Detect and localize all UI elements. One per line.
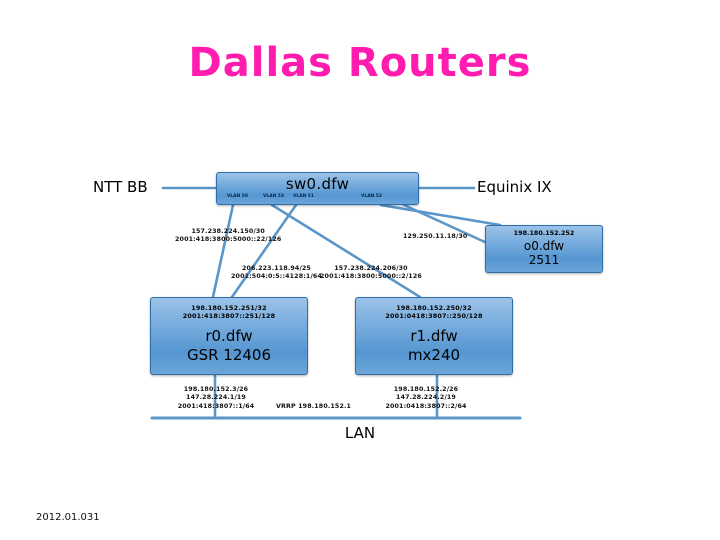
slide-footer-date: 2012.01.031 bbox=[36, 512, 100, 523]
lan-r1-v6: 2001:0418:3807::2/64 bbox=[366, 403, 486, 411]
lan-r0-v6: 2001:418:3807::1/64 bbox=[161, 403, 271, 411]
vlan-label-52: VLAN 52 bbox=[361, 194, 382, 199]
link-switch-vlan50-to-r0 bbox=[213, 205, 233, 297]
switch-device-label: sw0.dfw bbox=[217, 173, 418, 192]
lan-r1-v4-a: 198.180.152.2/26 bbox=[366, 386, 486, 394]
vlan-label-51: VLAN 51 bbox=[293, 194, 314, 199]
console-server-o0-dfw[interactable]: 198.180.152.252 o0.dfw 2511 bbox=[485, 225, 603, 273]
edge-label-console-net: 129.250.11.18/30 bbox=[403, 233, 467, 241]
console-server-device-label: o0.dfw bbox=[486, 237, 602, 253]
lan-bus-label: LAN bbox=[0, 424, 720, 442]
router-r1-device-label: r1.dfw bbox=[356, 320, 512, 346]
switch-sw0[interactable]: sw0.dfw VLAN 50 VLAN 53 VLAN 51 VLAN 52 bbox=[216, 172, 419, 205]
router-r1-loopback-v4: 198.180.152.250/32 bbox=[356, 304, 512, 312]
edge-label-ntt-r1: 157.238.224.206/30 2001:418:3800:5000::2… bbox=[320, 265, 422, 282]
router-r0-loopback-v6: 2001:418:3807::251/128 bbox=[151, 312, 307, 320]
slide-canvas: Dallas Routers sw0.dfw VLAN 50 VLAN 53 V… bbox=[0, 0, 720, 540]
link-switch-vlan51-to-r0 bbox=[232, 205, 296, 297]
router-r0-loopbacks: 198.180.152.251/32 2001:418:3807::251/12… bbox=[151, 298, 307, 320]
switch-vlan-labels: VLAN 50 VLAN 53 VLAN 51 VLAN 52 bbox=[217, 194, 418, 202]
router-r0-model-label: GSR 12406 bbox=[151, 346, 307, 365]
router-r0-loopback-v4: 198.180.152.251/32 bbox=[151, 304, 307, 312]
link-switch-vlan53-to-r1 bbox=[272, 205, 420, 297]
lan-r1-v4-b: 147.28.224.2/19 bbox=[366, 394, 486, 402]
vlan-label-53: VLAN 53 bbox=[263, 194, 284, 199]
lan-vrrp-label: VRRP 198.180.152.1 bbox=[276, 403, 351, 411]
edge-label-ntt-r0-v6: 2001:418:3800:5000::22/126 bbox=[175, 236, 281, 244]
edge-label-ntt-r0-v4: 157.238.224.150/30 bbox=[175, 228, 281, 236]
lan-addresses-r0: 198.180.152.3/26 147.28.224.1/19 2001:41… bbox=[161, 386, 271, 411]
vlan-label-50: VLAN 50 bbox=[227, 194, 248, 199]
lan-r0-v4-b: 147.28.224.1/19 bbox=[161, 394, 271, 402]
router-r1-dfw[interactable]: 198.180.152.250/32 2001:0418:3807::250/1… bbox=[355, 297, 513, 375]
router-r1-loopbacks: 198.180.152.250/32 2001:0418:3807::250/1… bbox=[356, 298, 512, 320]
edge-label-ntt-r1-v4: 157.238.224.206/30 bbox=[320, 265, 422, 273]
peer-label-equinix-ix: Equinix IX bbox=[477, 178, 552, 196]
edge-label-equinix: 206.223.118.94/25 2001:504:0:5::4128:1/6… bbox=[231, 265, 322, 282]
router-r1-model-label: mx240 bbox=[356, 346, 512, 365]
lan-r0-v4-a: 198.180.152.3/26 bbox=[161, 386, 271, 394]
edge-label-equinix-v6: 2001:504:0:5::4128:1/64 bbox=[231, 273, 322, 281]
console-server-model-label: 2511 bbox=[486, 253, 602, 267]
console-server-address: 198.180.152.252 bbox=[486, 226, 602, 237]
router-r0-dfw[interactable]: 198.180.152.251/32 2001:418:3807::251/12… bbox=[150, 297, 308, 375]
router-r1-loopback-v6: 2001:0418:3807::250/128 bbox=[356, 312, 512, 320]
edge-label-ntt-r1-v6: 2001:418:3800:5000::2/126 bbox=[320, 273, 422, 281]
edge-label-equinix-v4: 206.223.118.94/25 bbox=[231, 265, 322, 273]
edge-label-ntt-r0: 157.238.224.150/30 2001:418:3800:5000::2… bbox=[175, 228, 281, 245]
peer-label-ntt-bb: NTT BB bbox=[93, 178, 148, 196]
lan-addresses-r1: 198.180.152.2/26 147.28.224.2/19 2001:04… bbox=[366, 386, 486, 411]
router-r0-device-label: r0.dfw bbox=[151, 320, 307, 346]
